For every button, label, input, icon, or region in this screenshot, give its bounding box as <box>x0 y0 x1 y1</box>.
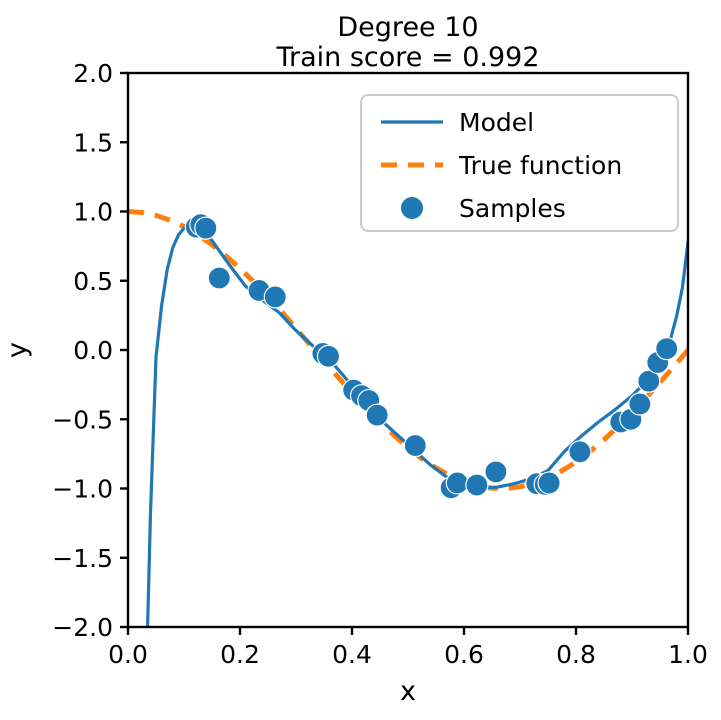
chart-title-line1: Degree 10 <box>337 12 478 43</box>
sample-point <box>366 404 388 426</box>
sample-point <box>569 441 591 463</box>
x-tick-label: 0.0 <box>108 640 148 669</box>
x-tick-label: 1.0 <box>668 640 708 669</box>
legend-label-samples: Samples <box>459 194 566 223</box>
y-tick-label: 0.5 <box>73 267 113 296</box>
y-tick-label: −2.0 <box>52 613 113 642</box>
sample-point <box>656 338 678 360</box>
x-axis-label: x <box>400 676 416 707</box>
y-tick-label: 1.0 <box>73 198 113 227</box>
x-tick-label: 0.6 <box>444 640 484 669</box>
x-tick-label: 0.2 <box>220 640 260 669</box>
sample-point <box>195 217 217 239</box>
sample-point <box>538 472 560 494</box>
sample-point <box>264 286 286 308</box>
y-tick-label: −1.0 <box>52 475 113 504</box>
sample-point <box>466 474 488 496</box>
y-tick-label: 2.0 <box>73 59 113 88</box>
sample-point <box>485 461 507 483</box>
y-tick-label: −1.5 <box>52 544 113 573</box>
y-axis-label: y <box>2 342 33 358</box>
legend-label-model: Model <box>459 108 534 137</box>
x-tick-label: 0.4 <box>332 640 372 669</box>
matplotlib-figure: Degree 10 Train score = 0.992 0.00.20.40… <box>0 0 721 720</box>
y-tick-label: 0.0 <box>73 336 113 365</box>
legend-label-true-function: True function <box>458 151 622 180</box>
y-tick-label: −0.5 <box>52 405 113 434</box>
figure-canvas: Degree 10 Train score = 0.992 0.00.20.40… <box>0 0 721 720</box>
sample-point <box>446 472 468 494</box>
sample-point <box>317 345 339 367</box>
sample-point <box>404 435 426 457</box>
sample-point <box>208 267 230 289</box>
y-tick-label: 1.5 <box>73 128 113 157</box>
sample-point <box>629 393 651 415</box>
chart-title-line2: Train score = 0.992 <box>276 42 540 73</box>
legend-dot-icon-samples <box>401 197 423 219</box>
x-tick-label: 0.8 <box>556 640 596 669</box>
legend[interactable]: Model True function Samples <box>361 95 678 231</box>
